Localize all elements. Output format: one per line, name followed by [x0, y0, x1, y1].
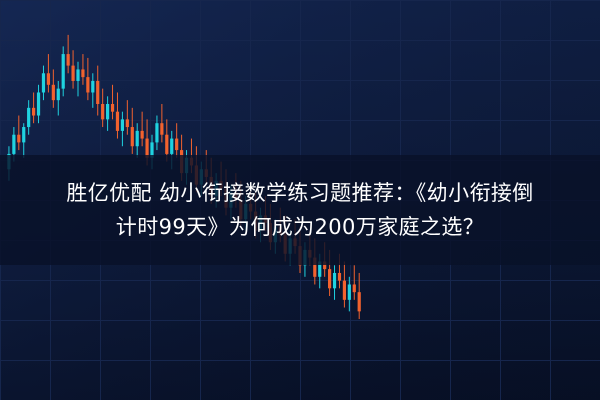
headline-line-2: 计时99天》为何成为200万家庭之选？ — [116, 210, 484, 244]
screenshot-root: 胜亿优配 幼小衔接数学练习题推荐：《幼小衔接倒 计时99天》为何成为200万家庭… — [0, 0, 600, 400]
headline-overlay: 胜亿优配 幼小衔接数学练习题推荐：《幼小衔接倒 计时99天》为何成为200万家庭… — [0, 155, 600, 265]
headline-line-1: 胜亿优配 幼小衔接数学练习题推荐：《幼小衔接倒 — [66, 176, 533, 210]
